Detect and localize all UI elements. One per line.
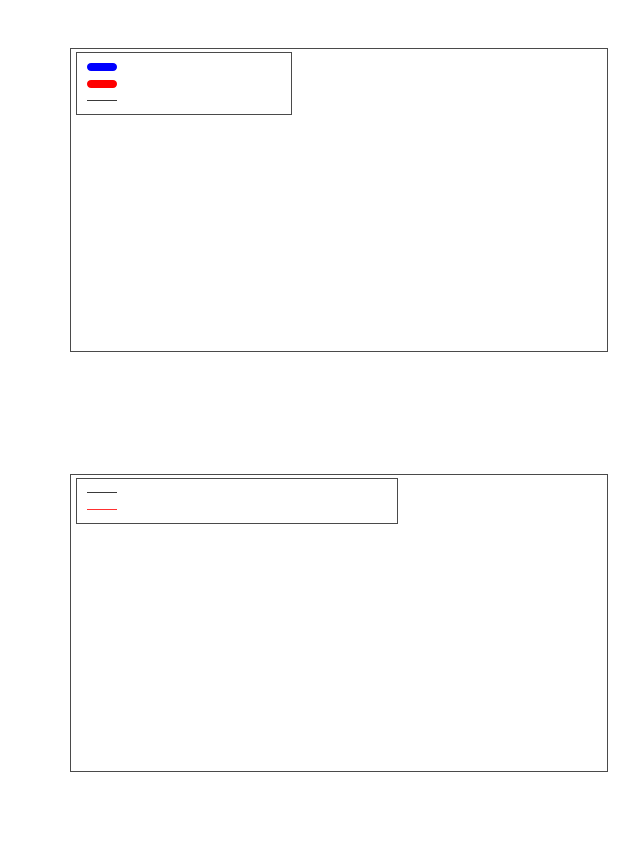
legend-item [83,501,389,518]
top-panel-accumulated [0,0,640,430]
bottom-panel-daily [0,430,640,850]
red-swatch-icon [83,80,121,88]
gray-line-icon [83,492,121,493]
legend-item [83,484,389,501]
black-line-icon [83,100,121,101]
bottom-legend [76,478,398,524]
legend-item [83,75,283,92]
blue-swatch-icon [83,63,121,71]
chart-page [0,0,640,850]
legend-item [83,92,283,109]
legend-item [83,58,283,75]
top-legend [76,52,292,115]
red-line-icon [83,509,121,510]
